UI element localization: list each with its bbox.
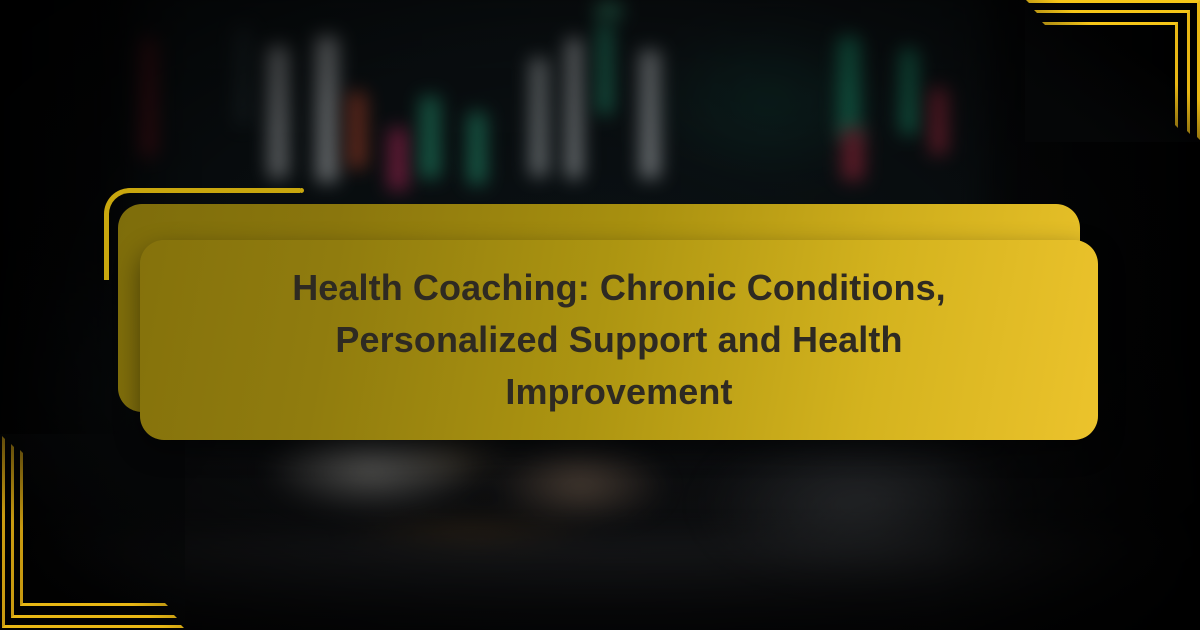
banner-canvas: Health Coaching: Chronic Conditions, Per… <box>0 0 1200 630</box>
page-title: Health Coaching: Chronic Conditions, Per… <box>269 262 969 417</box>
title-container: Health Coaching: Chronic Conditions, Per… <box>140 240 1098 440</box>
